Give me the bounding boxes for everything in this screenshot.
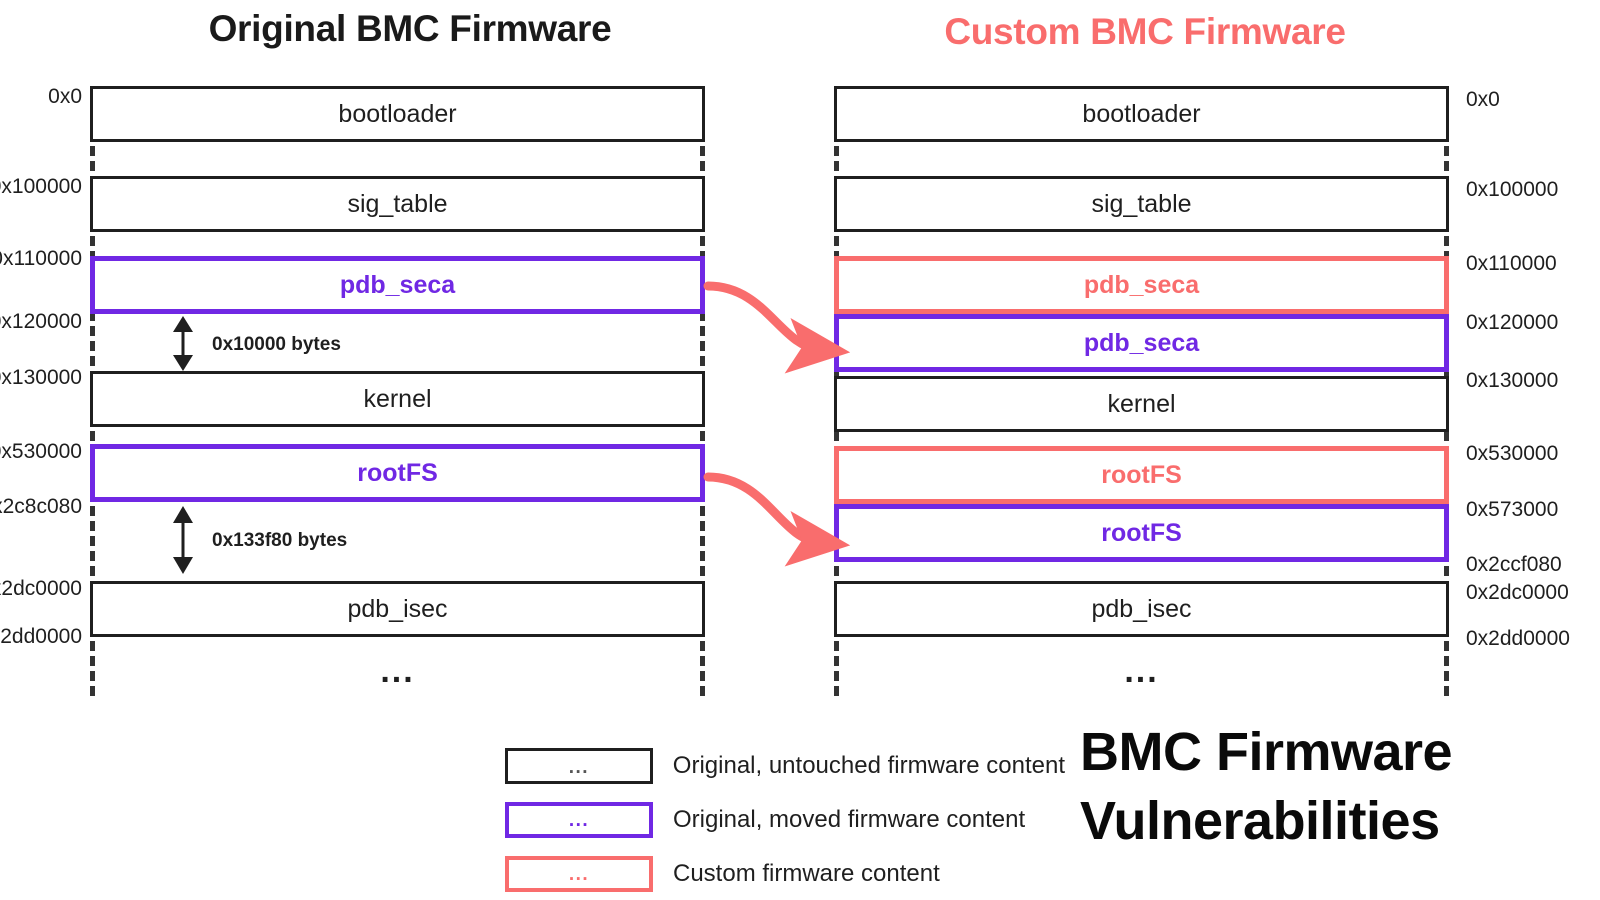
legend-row-untouched: ... Original, untouched firmware content (505, 743, 1065, 789)
pdb_seca-relocation-arrow (708, 286, 818, 349)
memory-block-pdb_isec: pdb_isec (834, 581, 1449, 637)
headline-line-1: BMC Firmware (1080, 718, 1580, 787)
memory-block-bootloader: bootloader (834, 86, 1449, 142)
diagram-canvas: Original BMC Firmware Custom BMC Firmwar… (0, 0, 1600, 900)
address-label-left-6: 0x2c8c080 (0, 496, 82, 517)
memory-block-label: pdb_isec (1091, 597, 1191, 622)
memory-block-label: rootFS (1101, 521, 1182, 546)
original-firmware-column: bootloader sig_table pdb_seca kernel roo… (90, 86, 705, 696)
memory-block-label: bootloader (1082, 102, 1200, 127)
legend-row-custom: ... Custom firmware content (505, 851, 1065, 897)
memory-block-rootFS: rootFS (90, 444, 705, 502)
page-title-custom: Custom BMC Firmware (840, 11, 1450, 53)
address-label-left-1: 0x100000 (0, 176, 82, 197)
address-label-right-9: 0x2dd0000 (1466, 628, 1570, 649)
memory-block-pdb_seca-moved: pdb_seca (834, 314, 1449, 372)
memory-block-pdb_isec: pdb_isec (90, 581, 705, 637)
memory-block-label: rootFS (1101, 463, 1182, 488)
memory-block-rootFS-custom: rootFS (834, 446, 1449, 504)
address-label-right-4: 0x130000 (1466, 370, 1558, 391)
memory-block-kernel: kernel (834, 376, 1449, 432)
memory-block-label: pdb_seca (1084, 273, 1199, 298)
memory-block-label: kernel (1107, 392, 1175, 417)
address-label-left-2: 0x110000 (0, 248, 82, 269)
address-label-right-7: 0x2ccf080 (1466, 554, 1562, 575)
address-label-right-2: 0x110000 (1466, 253, 1557, 274)
left-address-gutter: 0x0 0x100000 0x110000 0x120000 0x130000 … (0, 0, 86, 900)
page-title-original: Original BMC Firmware (100, 8, 720, 50)
memory-block-label: pdb_seca (340, 273, 455, 298)
memory-block-label: pdb_isec (347, 597, 447, 622)
memory-block-kernel: kernel (90, 371, 705, 427)
memory-block-label: sig_table (347, 192, 447, 217)
gap-annotation-1: 0x10000 bytes (168, 316, 198, 371)
legend-row-moved: ... Original, moved firmware content (505, 797, 1065, 843)
address-label-left-4: 0x130000 (0, 367, 82, 388)
memory-block-sig_table: sig_table (90, 176, 705, 232)
custom-firmware-column: bootloader sig_table pdb_seca pdb_seca k… (834, 86, 1449, 696)
headline: BMC Firmware Vulnerabilities (1080, 718, 1580, 856)
address-label-left-7: 0x2dc0000 (0, 578, 82, 599)
memory-block-label: kernel (363, 387, 431, 412)
headline-line-2: Vulnerabilities (1080, 787, 1580, 856)
rootFS-relocation-arrow (708, 477, 818, 542)
address-label-right-3: 0x120000 (1466, 312, 1558, 333)
address-label-right-1: 0x100000 (1466, 179, 1558, 200)
address-label-left-8: 0x2dd0000 (0, 626, 82, 647)
memory-block-label: rootFS (357, 461, 438, 486)
memory-block-rootFS-moved: rootFS (834, 504, 1449, 562)
memory-block-label: pdb_seca (1084, 331, 1199, 356)
legend-swatch-custom: ... (505, 856, 653, 892)
address-label-right-8: 0x2dc0000 (1466, 582, 1569, 603)
memory-block-sig_table: sig_table (834, 176, 1449, 232)
double-arrow-vertical-icon (168, 506, 198, 574)
legend-label-custom: Custom firmware content (673, 860, 940, 888)
address-label-left-3: 0x120000 (0, 311, 82, 332)
gap-annotation-2: 0x133f80 bytes (168, 506, 198, 574)
address-label-left-5: 0x530000 (0, 441, 82, 462)
memory-block-label: bootloader (338, 102, 456, 127)
address-label-right-0: 0x0 (1466, 89, 1500, 110)
memory-block-bootloader: bootloader (90, 86, 705, 142)
memory-block-pdb_seca: pdb_seca (90, 256, 705, 314)
memory-block-ellipsis: ... (90, 646, 705, 696)
legend-swatch-untouched: ... (505, 748, 653, 784)
gap-annotation-label: 0x133f80 bytes (212, 531, 347, 550)
memory-block-label: sig_table (1091, 192, 1191, 217)
address-label-left-0: 0x0 (48, 86, 82, 107)
legend: ... Original, untouched firmware content… (505, 743, 1065, 900)
double-arrow-vertical-icon (168, 316, 198, 371)
memory-block-ellipsis: ... (834, 646, 1449, 696)
address-label-right-6: 0x573000 (1466, 499, 1558, 520)
legend-label-moved: Original, moved firmware content (673, 806, 1025, 834)
gap-annotation-label: 0x10000 bytes (212, 335, 341, 354)
address-label-right-5: 0x530000 (1466, 443, 1558, 464)
legend-swatch-moved: ... (505, 802, 653, 838)
legend-label-untouched: Original, untouched firmware content (673, 752, 1065, 780)
memory-block-pdb_seca-custom: pdb_seca (834, 256, 1449, 314)
